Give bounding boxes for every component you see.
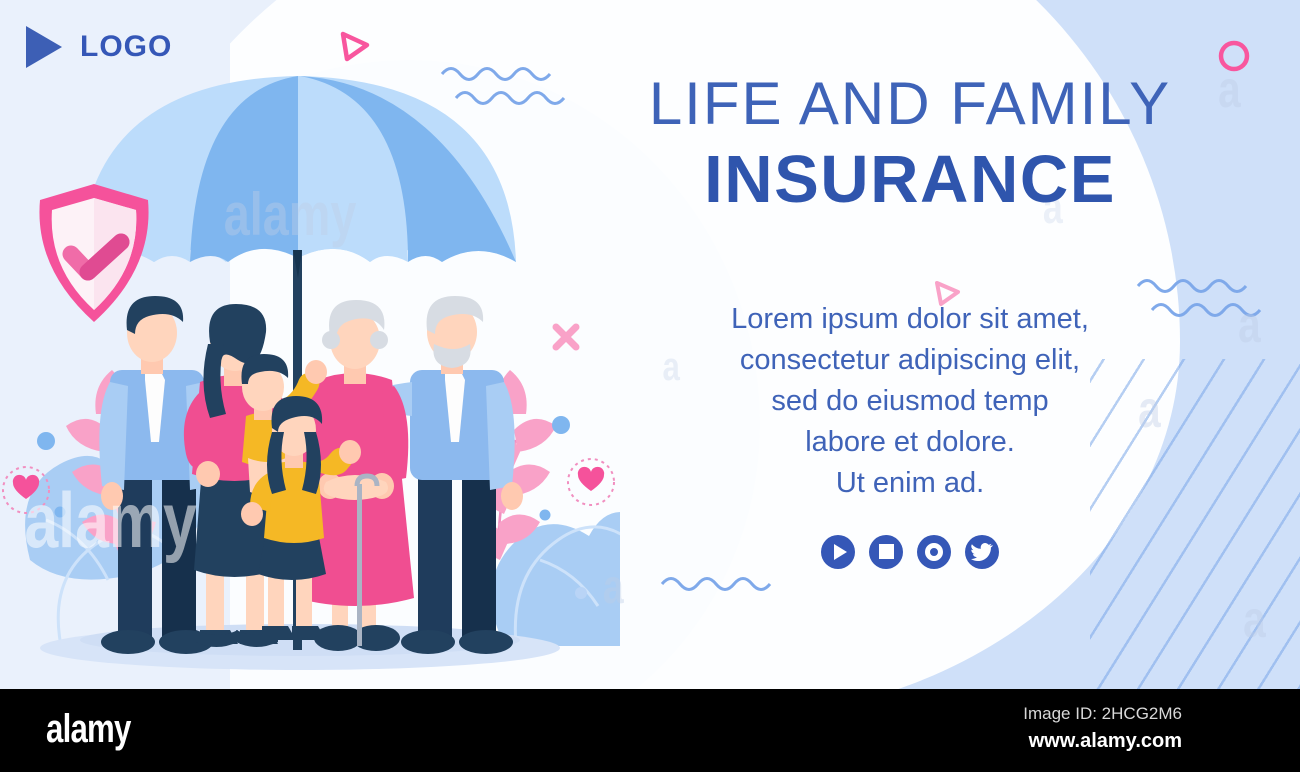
shield-check-icon	[30, 178, 158, 330]
blue-dot	[37, 432, 55, 450]
screenshot-root: alamy a a a a alamy a a a LOGO	[0, 0, 1300, 772]
blue-dot	[552, 416, 570, 434]
alamy-logo-text: alamy	[46, 707, 131, 752]
play-triangle-icon	[26, 26, 62, 68]
instagram-ring-icon[interactable]	[917, 535, 951, 569]
pink-circle-outline-icon	[1216, 38, 1252, 74]
pink-triangle-outline-icon	[334, 28, 374, 66]
square-icon[interactable]	[869, 535, 903, 569]
body-line: consectetur adipiscing elit,	[590, 340, 1230, 381]
blue-wave-lines-icon	[660, 570, 780, 602]
alamy-url-label: www.alamy.com	[1029, 730, 1182, 753]
banner-artwork: alamy a a a a alamy a a a LOGO	[0, 0, 1300, 689]
social-icons-row	[590, 535, 1230, 569]
blue-dot	[55, 507, 66, 518]
blue-wave-lines-icon	[440, 60, 570, 110]
alamy-watermark-bar: alamy Image ID: 2HCG2M6 www.alamy.com	[0, 689, 1300, 772]
banner-text-column: LIFE AND FAMILY INSURANCE Lorem ipsum do…	[590, 72, 1230, 569]
body-line: Ut enim ad.	[590, 463, 1230, 504]
headline-line-2: INSURANCE	[590, 143, 1230, 217]
blue-dot	[540, 510, 551, 521]
pink-x-icon	[549, 320, 583, 354]
body-line: sed do eiusmod temp	[590, 381, 1230, 422]
logo-text: LOGO	[80, 30, 172, 64]
logo[interactable]: LOGO	[26, 26, 172, 68]
twitter-bird-icon[interactable]	[965, 535, 999, 569]
play-icon[interactable]	[821, 535, 855, 569]
blue-dot	[575, 587, 587, 599]
image-id-label: Image ID: 2HCG2M6	[1023, 704, 1182, 724]
body-line: Lorem ipsum dolor sit amet,	[590, 299, 1230, 340]
body-line: labore et dolore.	[590, 422, 1230, 463]
body-paragraph: Lorem ipsum dolor sit amet, consectetur …	[590, 299, 1230, 505]
headline-line-1: LIFE AND FAMILY	[590, 72, 1230, 135]
